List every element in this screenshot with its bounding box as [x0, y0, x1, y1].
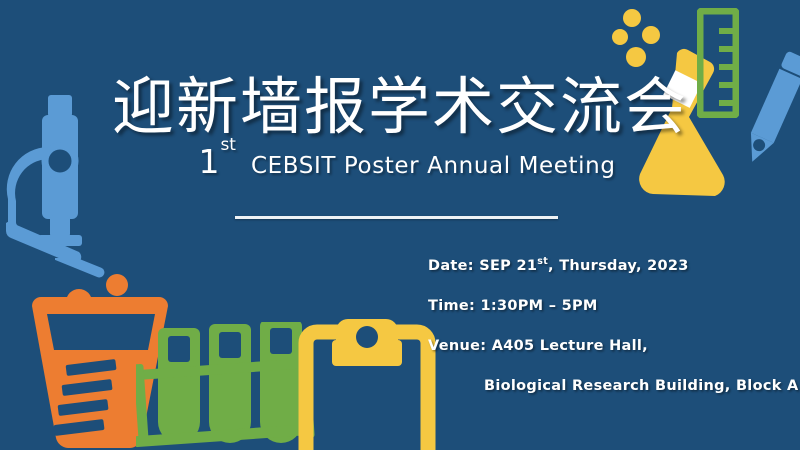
- page-title: 迎新墙报学术交流会: [0, 72, 800, 141]
- test-tubes-icon: [136, 322, 316, 450]
- detail-venue-line1: Venue: A405 Lecture Hall,: [428, 338, 799, 354]
- title-divider: [235, 216, 558, 219]
- ordinal-number: 1st: [198, 145, 235, 178]
- event-details: Date: SEP 21st, Thursday, 2023 Time: 1:3…: [428, 256, 799, 394]
- date-ordinal-suffix: st: [537, 256, 548, 267]
- ordinal-suffix: st: [220, 135, 236, 155]
- detail-time: Time: 1:30PM – 5PM: [428, 298, 799, 314]
- subtitle-row: 1st CEBSIT Poster Annual Meeting: [0, 145, 800, 179]
- detail-date: Date: SEP 21st, Thursday, 2023: [428, 256, 799, 274]
- title-block: 迎新墙报学术交流会 1st CEBSIT Poster Annual Meeti…: [0, 72, 800, 179]
- poster-canvas: 迎新墙报学术交流会 1st CEBSIT Poster Annual Meeti…: [0, 0, 800, 450]
- clipboard-icon: [294, 310, 444, 450]
- subtitle-english: CEBSIT Poster Annual Meeting: [251, 153, 616, 179]
- detail-venue-line2: Biological Research Building, Block A: [428, 378, 799, 394]
